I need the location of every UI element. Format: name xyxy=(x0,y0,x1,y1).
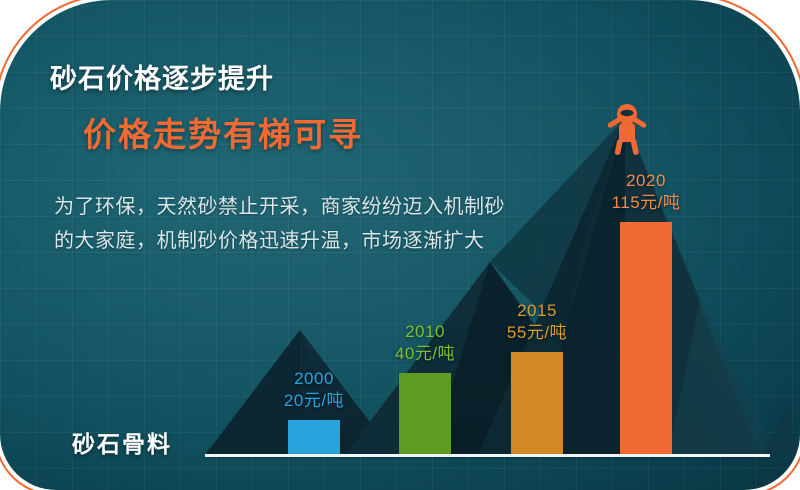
bar-2010[interactable] xyxy=(399,373,451,454)
bar-price-2000: 20元/吨 xyxy=(244,390,384,412)
hiker-icon xyxy=(605,103,649,155)
footer-label: 砂石骨料 xyxy=(72,425,172,459)
body-paragraph: 为了环保，天然砂禁止开采，商家纷纷迈入机制砂的大家庭，机制砂价格迅速升温，市场逐… xyxy=(54,190,509,258)
bar-year-2015: 2015 xyxy=(467,300,607,322)
bar-year-2000: 2000 xyxy=(244,368,384,390)
bar-label-2015: 2015 55元/吨 xyxy=(467,300,607,344)
infographic-poster: 砂石价格逐步提升 价格走势有梯可寻 为了环保，天然砂禁止开采，商家纷纷迈入机制砂… xyxy=(0,0,800,490)
bar-2000[interactable] xyxy=(288,420,340,454)
page-subtitle: 价格走势有梯可寻 xyxy=(83,108,363,156)
bar-2015[interactable] xyxy=(511,352,563,454)
bar-label-2000: 2000 20元/吨 xyxy=(244,368,384,412)
bar-price-2020: 115元/吨 xyxy=(576,192,716,214)
bar-price-2015: 55元/吨 xyxy=(467,322,607,344)
page-title: 砂石价格逐步提升 xyxy=(50,57,274,96)
chart-axis-line xyxy=(205,454,770,457)
bar-price-2010: 40元/吨 xyxy=(355,343,495,365)
bar-label-2020: 2020 115元/吨 xyxy=(576,170,716,214)
bar-year-2020: 2020 xyxy=(576,170,716,192)
bar-2020[interactable] xyxy=(620,222,672,454)
